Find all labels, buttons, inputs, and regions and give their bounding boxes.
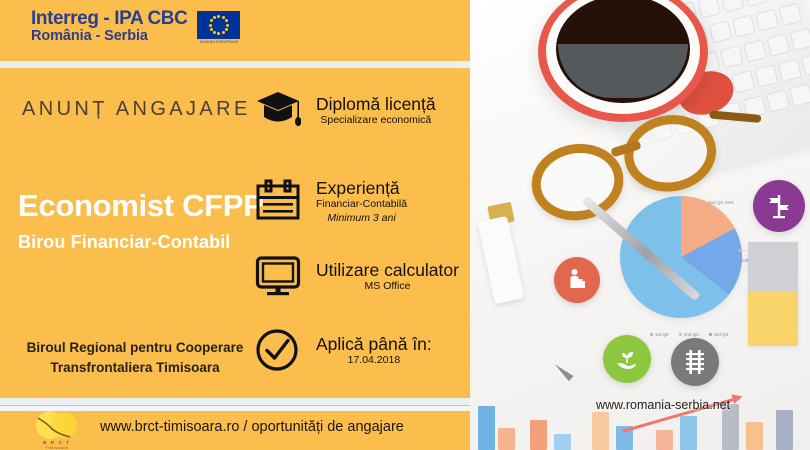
legend-item: 1st Qtr bbox=[650, 332, 669, 337]
announcement-kicker: ANUNȚ ANGAJARE bbox=[22, 98, 251, 121]
eu-star bbox=[222, 31, 225, 34]
header-divider-strip bbox=[0, 61, 470, 68]
requirement-text-deadline: Aplică până în: 17.04.2018 bbox=[316, 332, 432, 368]
chart-bar bbox=[776, 410, 793, 450]
left-content-panel: Interreg - IPA CBC România - Serbia UNIU… bbox=[0, 0, 470, 450]
check-circle-icon bbox=[254, 326, 302, 374]
keyboard-key bbox=[708, 20, 732, 43]
calendar-icon bbox=[254, 177, 302, 225]
eu-star bbox=[210, 19, 213, 22]
requirement-title: Experiență bbox=[316, 178, 407, 198]
eu-star bbox=[225, 28, 228, 31]
graduation-cap-icon bbox=[254, 86, 302, 134]
chart-bar bbox=[554, 434, 571, 450]
keyboard-key bbox=[789, 84, 810, 107]
chart-bar bbox=[498, 428, 515, 450]
legend-item: 2nd Qtr bbox=[679, 332, 699, 337]
eu-flag-block: UNIUNEA EUROPEANĂ bbox=[197, 11, 240, 44]
requirement-row-deadline: Aplică până în: 17.04.2018 bbox=[254, 326, 432, 374]
organisation-line-1: Biroul Regional pentru Cooperare bbox=[10, 338, 260, 358]
railway-track-icon bbox=[671, 338, 719, 386]
pie-legend: 1st Qtr 2nd Qtr 3rd Qtr bbox=[650, 332, 728, 337]
eu-star bbox=[222, 16, 225, 19]
programme-countries: România - Serbia bbox=[31, 29, 187, 44]
keyboard-key bbox=[732, 14, 756, 37]
keyboard-key bbox=[767, 0, 791, 1]
requirement-row-diploma: Diplomă licență Specializare economică bbox=[254, 86, 436, 134]
eu-star bbox=[210, 28, 213, 31]
chart-bar bbox=[746, 422, 763, 450]
chart-bar bbox=[680, 416, 697, 450]
footer-divider-strip bbox=[0, 398, 470, 405]
requirement-text-computer: Utilizare calculator MS Office bbox=[316, 258, 459, 294]
keyboard-key bbox=[744, 0, 768, 7]
keyboard-key bbox=[755, 9, 779, 32]
programme-name: Interreg - IPA CBC bbox=[31, 9, 187, 28]
keyboard-key bbox=[731, 70, 755, 93]
keyboard-key bbox=[778, 59, 802, 82]
website-right[interactable]: www.romania-serbia.net bbox=[596, 398, 730, 412]
eu-star bbox=[209, 24, 212, 27]
requirement-title: Diplomă licență bbox=[316, 94, 436, 114]
job-title: Economist CFPP bbox=[18, 188, 264, 224]
chart-bar bbox=[530, 420, 547, 450]
eu-star bbox=[217, 15, 220, 18]
eu-star bbox=[217, 32, 220, 35]
eu-star bbox=[213, 16, 216, 19]
requirement-detail: Financiar-Contabilă bbox=[316, 198, 407, 212]
job-announcement-poster: Interreg - IPA CBC România - Serbia UNIU… bbox=[0, 0, 810, 450]
eu-flag-caption: UNIUNEA EUROPEANĂ bbox=[197, 40, 240, 44]
keyboard-key bbox=[766, 34, 790, 57]
requirement-text-diploma: Diplomă licență Specializare economică bbox=[316, 92, 436, 128]
keyboard-key bbox=[697, 0, 721, 19]
signpost-icon bbox=[753, 180, 805, 232]
keyboard-key bbox=[720, 0, 744, 13]
stack-segment bbox=[748, 242, 798, 292]
requirement-detail-italic: Minimum 3 ani bbox=[316, 212, 407, 226]
website-left[interactable]: www.brct-timisoara.ro / oportunități de … bbox=[100, 419, 404, 435]
eu-star bbox=[226, 24, 229, 27]
svg-text:Timisoara: Timisoara bbox=[46, 446, 69, 450]
legend-item: 3rd Qtr bbox=[709, 332, 728, 337]
chart-bar bbox=[592, 412, 609, 450]
requirement-deadline-date: 17.04.2018 bbox=[316, 354, 432, 368]
keyboard-key bbox=[790, 28, 810, 51]
interreg-wordmark: Interreg - IPA CBC România - Serbia bbox=[31, 9, 187, 44]
keyboard-key bbox=[755, 64, 779, 87]
requirement-row-experience: Experiență Financiar-Contabilă Minimum 3… bbox=[254, 176, 407, 225]
svg-text:B R C T: B R C T bbox=[43, 440, 70, 445]
eu-star bbox=[225, 19, 228, 22]
eu-star bbox=[213, 31, 216, 34]
interreg-logo: Interreg - IPA CBC România - Serbia UNIU… bbox=[31, 9, 240, 44]
organisation-line-2: Transfrontaliera Timisoara bbox=[10, 358, 260, 378]
requirement-title: Aplică până în: bbox=[316, 334, 432, 354]
job-department: Birou Financiar-Contabil bbox=[18, 232, 230, 253]
requirement-text-experience: Experiență Financiar-Contabilă Minimum 3… bbox=[316, 176, 407, 225]
chart-bar bbox=[478, 406, 495, 450]
organisation-name: Biroul Regional pentru Cooperare Transfr… bbox=[10, 338, 260, 379]
chart-bar bbox=[656, 430, 673, 450]
keyboard-key bbox=[766, 89, 790, 112]
desk-photo-panel: 1st Qtr 58% 2nd Qtr 23% Other 19% 1st Qt… bbox=[470, 0, 810, 450]
keyboard-key bbox=[743, 39, 767, 62]
requirement-title: Utilizare calculator bbox=[316, 260, 459, 280]
requirement-row-computer: Utilizare calculator MS Office bbox=[254, 252, 459, 300]
hand-plant-icon bbox=[603, 335, 651, 383]
pie-chart-image bbox=[620, 196, 742, 318]
brct-timisoara-logo: B R C T Timisoara bbox=[28, 410, 86, 450]
stack-segment bbox=[748, 292, 798, 346]
requirement-detail: Specializare economică bbox=[316, 114, 436, 128]
keyboard-key bbox=[720, 45, 744, 68]
pie-label-2: 2nd Qtr 23% bbox=[708, 200, 734, 205]
keyboard-key bbox=[778, 3, 802, 26]
requirement-detail: MS Office bbox=[316, 280, 459, 294]
eu-flag-icon bbox=[197, 11, 240, 39]
worker-briefcase-icon bbox=[554, 257, 600, 303]
monitor-icon bbox=[254, 252, 302, 300]
keyboard-key bbox=[801, 53, 810, 76]
stacked-bar-image bbox=[748, 242, 798, 346]
